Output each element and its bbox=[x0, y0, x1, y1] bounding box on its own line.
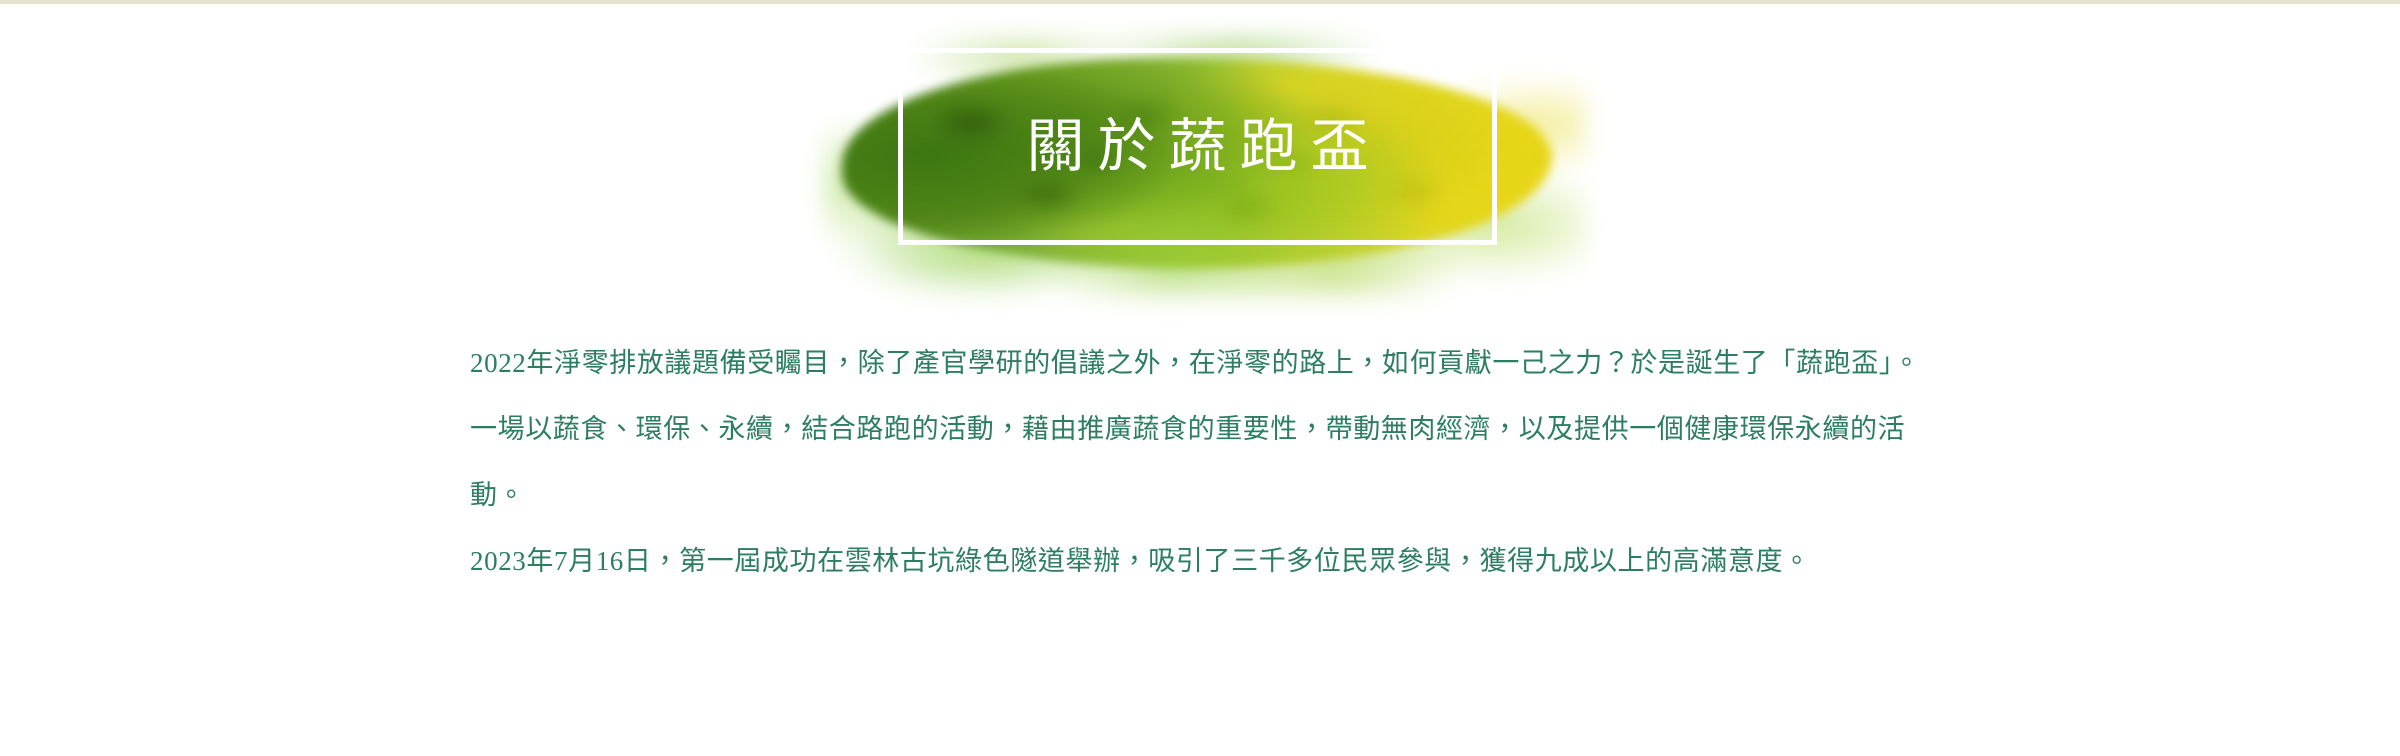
about-paragraph-3: 2023年7月16日，第一屆成功在雲林古坑綠色隧道舉辦，吸引了三千多位民眾參與，… bbox=[470, 528, 1930, 594]
about-paragraph-2: 一場以蔬食、環保、永續，結合路跑的活動，藉由推廣蔬食的重要性，帶動無肉經濟，以及… bbox=[470, 396, 1930, 528]
about-content: 2022年淨零排放議題備受矚目，除了產官學研的倡議之外，在淨零的路上，如何貢獻一… bbox=[470, 330, 1930, 594]
top-accent-rule bbox=[0, 0, 2400, 4]
banner-inner: 關於蔬跑盃 bbox=[810, 22, 1600, 312]
about-paragraph-1: 2022年淨零排放議題備受矚目，除了產官學研的倡議之外，在淨零的路上，如何貢獻一… bbox=[470, 330, 1930, 396]
page-title: 關於蔬跑盃 bbox=[898, 48, 1497, 245]
about-banner: 關於蔬跑盃 bbox=[0, 22, 2400, 312]
